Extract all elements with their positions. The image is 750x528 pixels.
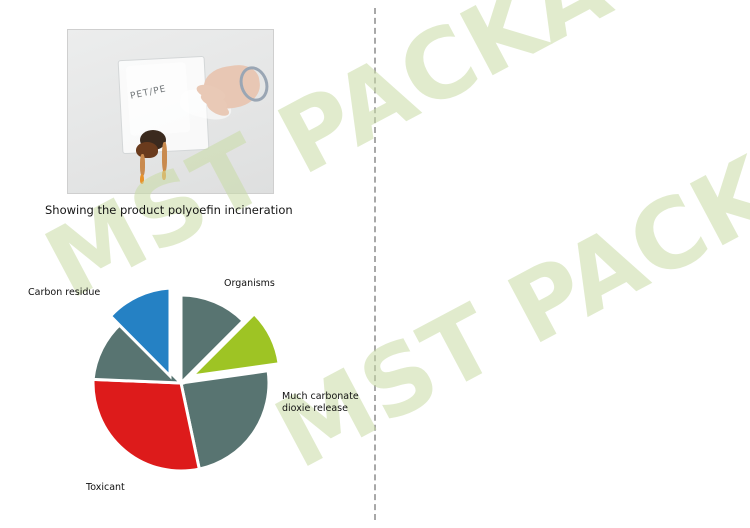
panel-divider — [374, 8, 376, 520]
molten-drip-2 — [162, 142, 167, 172]
left-panel: PET/PE Showing the product polyoefin inc… — [0, 0, 375, 528]
left-label-co2-line2: dioxie release — [282, 403, 348, 415]
left-label-co2-line1: Much carbonate — [282, 391, 359, 403]
photo-polyolefin-incineration: PET/PE — [67, 29, 274, 194]
left-caption: Showing the product polyoefin incinerati… — [45, 203, 365, 218]
right-panel: Showing the product afrer the incinerati… — [375, 0, 750, 528]
flame-2 — [162, 170, 166, 180]
left-label-organisms: Organisms — [224, 278, 275, 290]
burn-edge — [136, 142, 158, 158]
left-label-toxicant: Toxicant — [86, 482, 125, 494]
left-label-carbon-residue: Carbon residue — [28, 287, 100, 299]
flame-1 — [140, 174, 144, 184]
molten-drip-1 — [140, 154, 145, 176]
slice-toxicant — [93, 379, 199, 471]
